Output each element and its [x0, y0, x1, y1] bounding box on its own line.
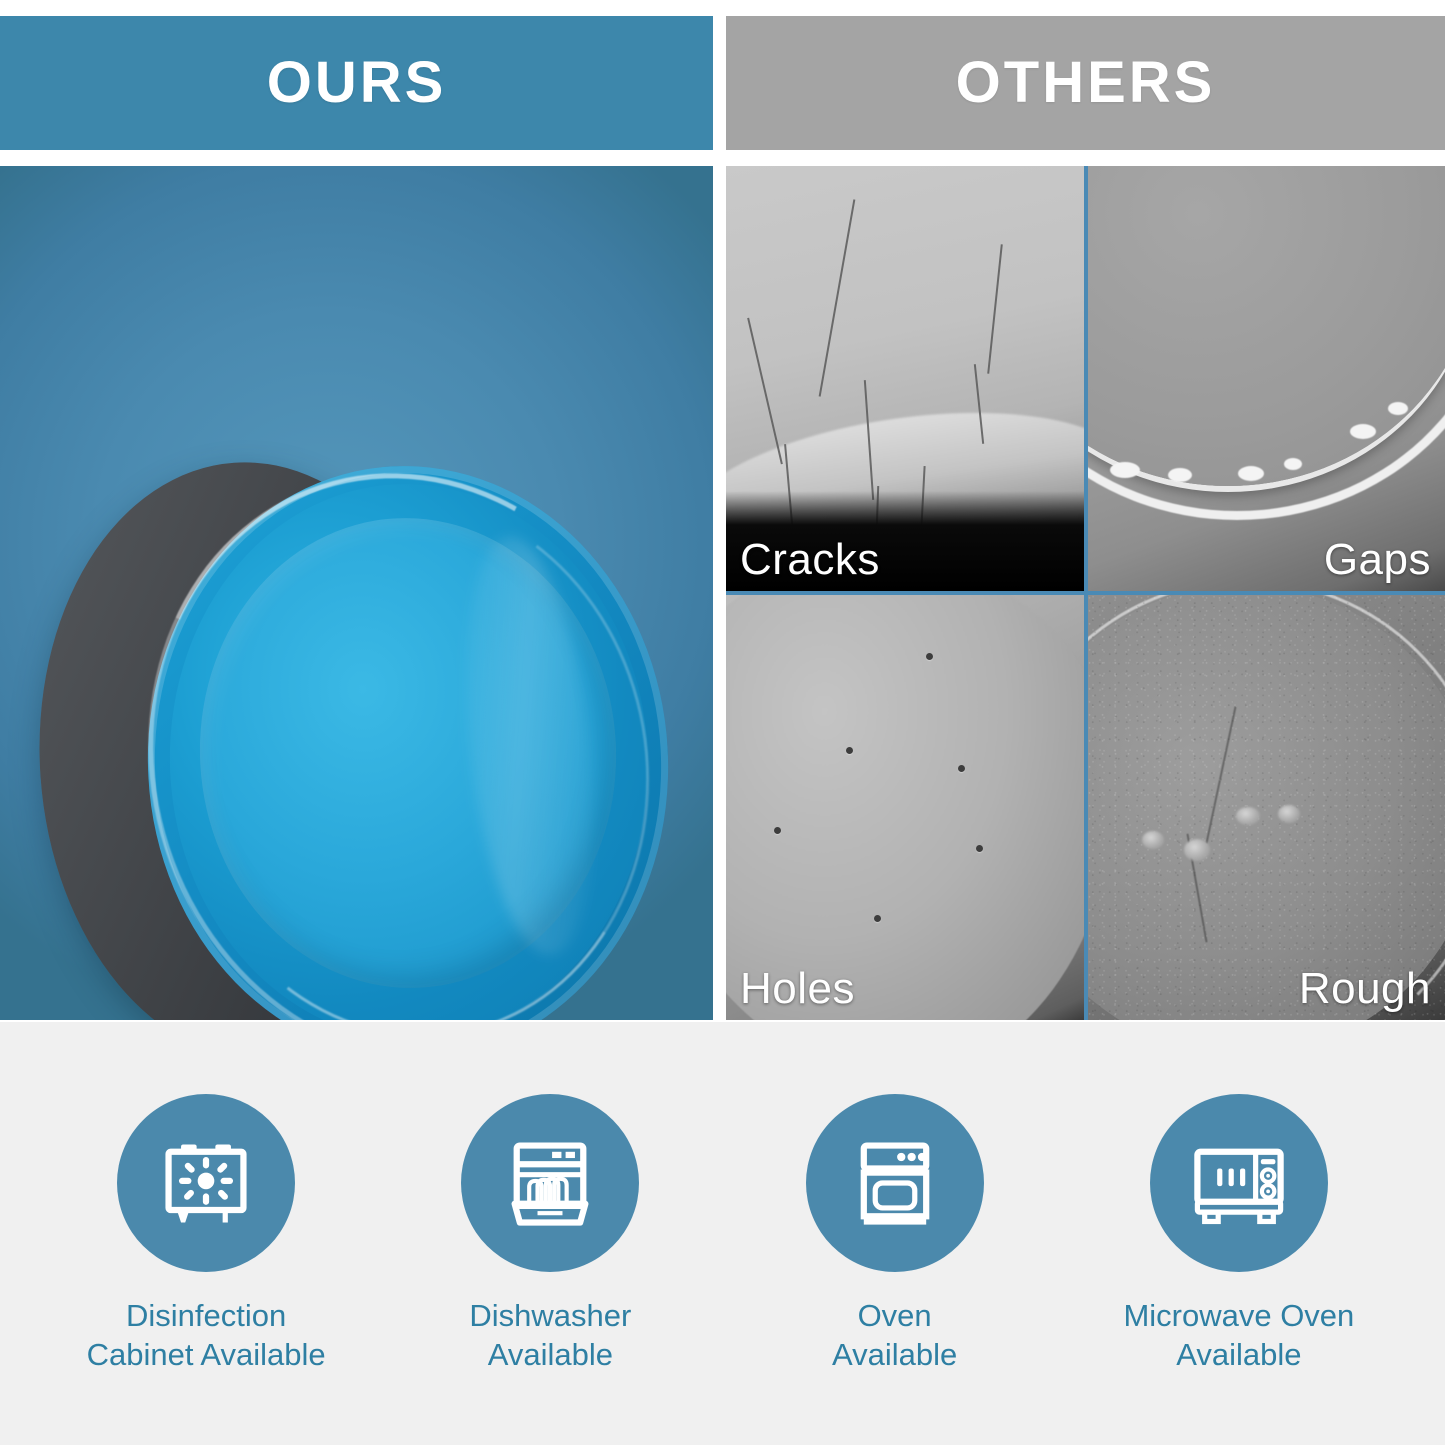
ours-column: OURS	[0, 16, 713, 1020]
dishwasher-icon	[461, 1094, 639, 1272]
defect-label-cracks: Cracks	[740, 537, 880, 583]
others-banner: OTHERS	[726, 16, 1445, 150]
defect-panel-rough: Rough	[1088, 595, 1445, 1020]
rough-surface-texture	[1088, 595, 1445, 1020]
crack-line	[747, 318, 783, 465]
gap-bump	[1388, 402, 1408, 415]
feature-label-oven: Oven Available	[832, 1296, 957, 1375]
feature-label-microwave-oven: Microwave Oven Available	[1123, 1296, 1354, 1375]
hole-pinhole	[874, 915, 881, 922]
feature-label-dishwasher: Dishwasher Available	[469, 1296, 631, 1375]
feature-label-disinfection-cabinet: Disinfection Cabinet Available	[87, 1296, 326, 1375]
gap-bump	[1168, 468, 1192, 482]
defect-grid: Cracks Gaps	[726, 166, 1445, 1020]
gap-bump	[1110, 462, 1140, 478]
defect-label-holes: Holes	[740, 966, 855, 1012]
feature-oven: Oven Available	[730, 1022, 1060, 1375]
feature-disinfection-cabinet: Disinfection Cabinet Available	[41, 1022, 371, 1375]
gaps-pan-ring	[1088, 166, 1445, 520]
defect-panel-holes: Holes	[726, 595, 1084, 1020]
defect-panel-cracks: Cracks	[726, 166, 1084, 591]
feature-microwave-oven: Microwave Oven Available	[1074, 1022, 1404, 1375]
others-banner-label: OTHERS	[956, 54, 1216, 112]
comparison-region: OURS OTHERS	[0, 0, 1445, 1022]
features-strip: Disinfection Cabinet Available	[0, 1022, 1445, 1445]
defect-label-gaps: Gaps	[1324, 537, 1431, 583]
oven-icon	[806, 1094, 984, 1272]
product-comparison-infographic: OURS OTHERS	[0, 0, 1445, 1445]
rough-blemish	[1236, 807, 1260, 825]
defect-label-rough: Rough	[1299, 966, 1431, 1012]
rough-blemish	[1142, 831, 1164, 849]
rough-blemish	[1278, 805, 1300, 823]
hole-pinhole	[846, 747, 853, 754]
gap-bump	[1350, 424, 1376, 439]
others-column: OTHERS Cracks	[726, 16, 1445, 1020]
hole-pinhole	[774, 827, 781, 834]
microwave-oven-icon	[1150, 1094, 1328, 1272]
ours-product-photo	[0, 166, 713, 1020]
hole-pinhole	[958, 765, 965, 772]
gap-bump	[1284, 458, 1302, 470]
crack-line	[819, 199, 856, 396]
gap-bump	[1238, 466, 1264, 481]
feature-dishwasher: Dishwasher Available	[385, 1022, 715, 1375]
hole-pinhole	[926, 653, 933, 660]
ours-banner: OURS	[0, 16, 713, 150]
crack-line	[987, 244, 1003, 373]
ours-banner-label: OURS	[267, 54, 447, 112]
rough-blemish	[1184, 839, 1210, 861]
defect-panel-gaps: Gaps	[1088, 166, 1445, 591]
disinfection-cabinet-icon	[117, 1094, 295, 1272]
hole-pinhole	[976, 845, 983, 852]
holes-pan-body	[726, 595, 1084, 1020]
